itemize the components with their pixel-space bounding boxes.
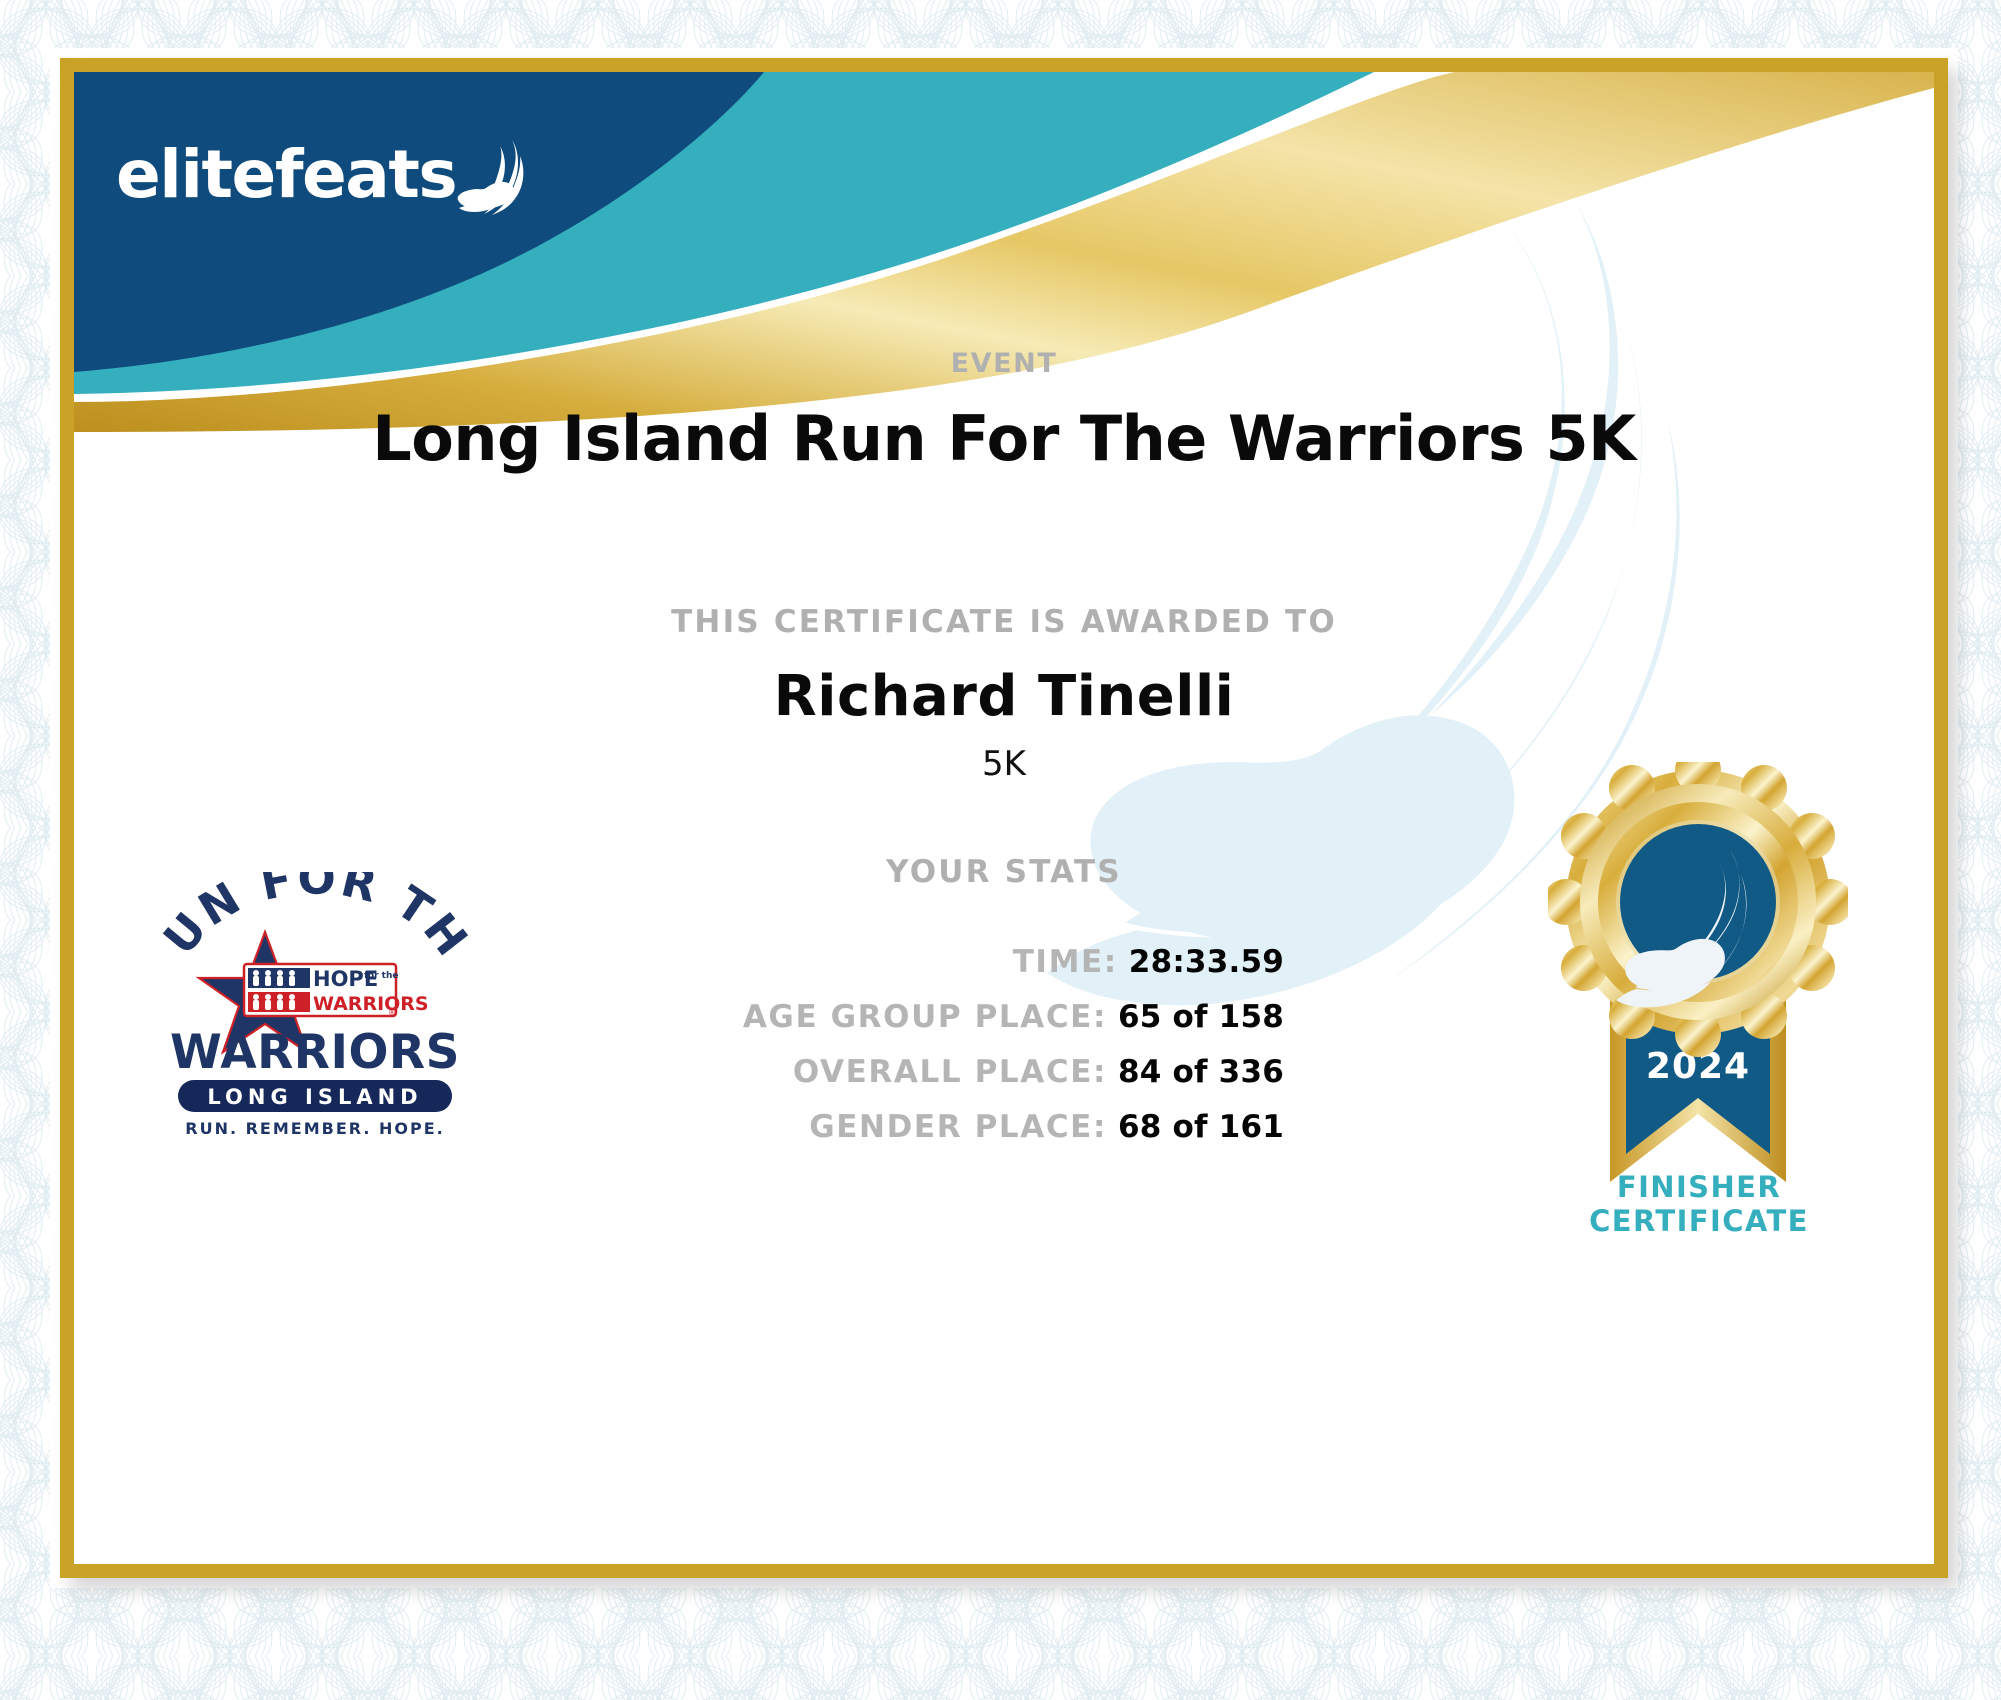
event-title: Long Island Run For The Warriors 5K: [74, 402, 1934, 475]
certificate-page: elitefeats EVENT Long Island Run For The…: [0, 0, 2001, 1700]
stat-label-gender-place: GENDER PLACE:: [809, 1109, 1107, 1145]
svg-text:RUN FOR THE: RUN FOR THE: [160, 872, 470, 968]
logo-tagline: RUN. REMEMBER. HOPE.: [185, 1119, 445, 1138]
logo-banner-text: LONG ISLAND: [207, 1085, 422, 1109]
stat-value-time: 28:33.59: [1129, 944, 1284, 980]
brand-wordmark: elitefeats: [116, 142, 456, 208]
seal-caption-line2: CERTIFICATE: [1534, 1204, 1864, 1238]
recipient-name: Richard Tinelli: [74, 664, 1934, 729]
stat-label-age-group-place: AGE GROUP PLACE:: [743, 999, 1107, 1035]
logo-warriors-text: WARRIORS: [170, 1025, 460, 1080]
certificate-frame: elitefeats EVENT Long Island Run For The…: [60, 58, 1948, 1578]
brand-logo: elitefeats: [116, 134, 528, 216]
finisher-medal-seal: 2024: [1548, 762, 1848, 1182]
awarded-to-label: THIS CERTIFICATE IS AWARDED TO: [74, 604, 1934, 640]
run-for-the-warriors-logo: RUN FOR THE: [160, 872, 470, 1142]
certificate-body: elitefeats EVENT Long Island Run For The…: [74, 72, 1934, 1564]
winged-foot-icon: [456, 138, 528, 216]
stat-value-overall-place: 84 of 336: [1118, 1054, 1284, 1090]
seal-caption-line1: FINISHER: [1534, 1170, 1864, 1204]
badge-registered-mark: ®: [388, 1008, 396, 1017]
hope-for-the-warriors-badge: HOPE for the WARRIORS ®: [244, 964, 429, 1017]
event-label: EVENT: [74, 348, 1934, 379]
badge-forthe-text: for the: [364, 971, 398, 981]
seal-caption: FINISHER CERTIFICATE: [1534, 1170, 1864, 1238]
certificate-content: EVENT Long Island Run For The Warriors 5…: [74, 72, 1934, 1564]
logo-arc-text: RUN FOR THE: [160, 872, 470, 968]
stat-value-age-group-place: 65 of 158: [1118, 999, 1284, 1035]
stat-value-gender-place: 68 of 161: [1118, 1109, 1284, 1145]
stat-label-time: TIME:: [1013, 944, 1118, 980]
logo-long-island-banner: LONG ISLAND: [178, 1080, 452, 1112]
stat-label-overall-place: OVERALL PLACE:: [793, 1054, 1107, 1090]
badge-warriors-text: WARRIORS: [313, 993, 429, 1015]
